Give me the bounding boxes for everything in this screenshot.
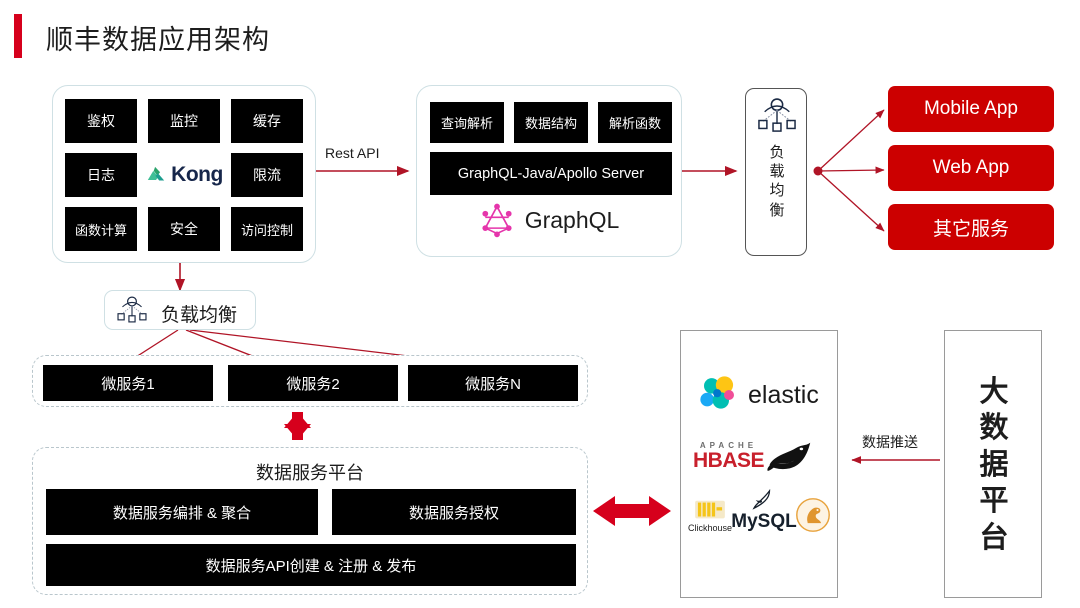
client-other-services[interactable]: 其它服务 [888,204,1054,250]
graphql-cell-0[interactable]: 查询解析 [430,102,504,143]
rest-api-label: Rest API [325,145,379,161]
lb-char-0: 负 [769,143,784,162]
graphql-mark-icon [479,202,515,238]
mysql-logo-text: MySQL [731,511,796,533]
load-balancer-left-label: 负载均衡 [161,300,237,327]
microservice-n[interactable]: 微服务N [408,365,578,401]
microservice-2[interactable]: 微服务2 [228,365,398,401]
data-service-platform-panel: 数据服务平台 数据服务编排 & 聚合 数据服务授权 数据服务API创建 & 注册… [32,447,588,595]
gateway-cell-7[interactable]: 安全 [148,207,220,251]
graphql-server-row[interactable]: GraphQL-Java/Apollo Server [430,152,672,195]
load-balancer-right: 负 载 均 衡 [745,88,807,256]
graphql-cell-1[interactable]: 数据结构 [514,102,588,143]
bdp-char-3: 平 [979,483,1008,520]
lb-char-3: 衡 [769,201,784,220]
client-mobile-app[interactable]: Mobile App [888,86,1054,132]
data-service-api-lifecycle[interactable]: 数据服务API创建 & 注册 & 发布 [46,544,576,586]
gateway-cell-8[interactable]: 访问控制 [231,207,303,251]
microservice-1[interactable]: 微服务1 [43,365,213,401]
elastic-logo: elastic [699,375,819,415]
kong-logo-text: Kong [171,163,223,187]
bdp-char-4: 台 [979,520,1008,557]
microservices-panel: 微服务1 微服务2 微服务N [32,355,588,407]
storage-logo-row: Clickhouse MySQL [687,489,835,533]
load-balancer-left: 负载均衡 [104,290,256,330]
lb-char-1: 载 [769,162,784,181]
elastic-mark-icon [699,375,739,415]
hbase-logo: APACHE HBASE [693,439,829,473]
storage-panel: elastic APACHE HBASE [680,330,838,598]
big-data-platform-panel: 大 数 据 平 台 [944,330,1042,598]
gateway-cell-0[interactable]: 鉴权 [65,99,137,143]
data-service-platform-title: 数据服务平台 [33,459,587,485]
clickhouse-logo-text: Clickhouse [688,523,732,533]
lb-char-2: 均 [769,181,784,200]
client-web-app[interactable]: Web App [888,145,1054,191]
load-balancer-right-label: 负 载 均 衡 [746,143,808,220]
graphql-cell-2[interactable]: 解析函数 [598,102,672,143]
orca-icon [766,439,812,473]
hbase-logo-text: HBASE [693,450,764,471]
kong-logo: Kong [148,153,220,197]
title-accent-bar [14,14,22,58]
mysql-dolphin-icon [752,489,776,511]
gateway-cell-2[interactable]: 缓存 [231,99,303,143]
elastic-logo-text: elastic [748,381,819,410]
big-data-platform-label: 大 数 据 平 台 [945,331,1043,599]
bdp-char-0: 大 [979,374,1008,411]
gateway-cell-3[interactable]: 日志 [65,153,137,197]
bdp-char-1: 数 [979,410,1008,447]
gateway-cell-6[interactable]: 函数计算 [65,207,137,251]
data-service-orchestration[interactable]: 数据服务编排 & 聚合 [46,489,318,535]
clickhouse-mark-icon [693,497,727,523]
druid-logo-icon [795,497,831,533]
graphql-logo-text: GraphQL [525,207,620,234]
graphql-panel: 查询解析 数据结构 解析函数 GraphQL-Java/Apollo Serve… [416,85,682,257]
api-gateway-panel: 鉴权 监控 缓存 日志 Kong 限流 函数计算 安全 访问控制 [52,85,316,263]
data-service-authorization[interactable]: 数据服务授权 [332,489,576,535]
diagram-canvas: 顺丰数据应用架构 [0,0,1080,608]
data-push-label: 数据推送 [862,432,918,452]
gateway-cell-1[interactable]: 监控 [148,99,220,143]
gateway-cell-5[interactable]: 限流 [231,153,303,197]
page-title: 顺丰数据应用架构 [46,18,270,57]
load-balancer-icon [113,296,151,326]
graphql-logo: GraphQL [417,202,681,238]
kong-mark-icon [145,165,167,185]
bdp-char-2: 据 [979,447,1008,484]
load-balancer-icon [755,97,799,137]
